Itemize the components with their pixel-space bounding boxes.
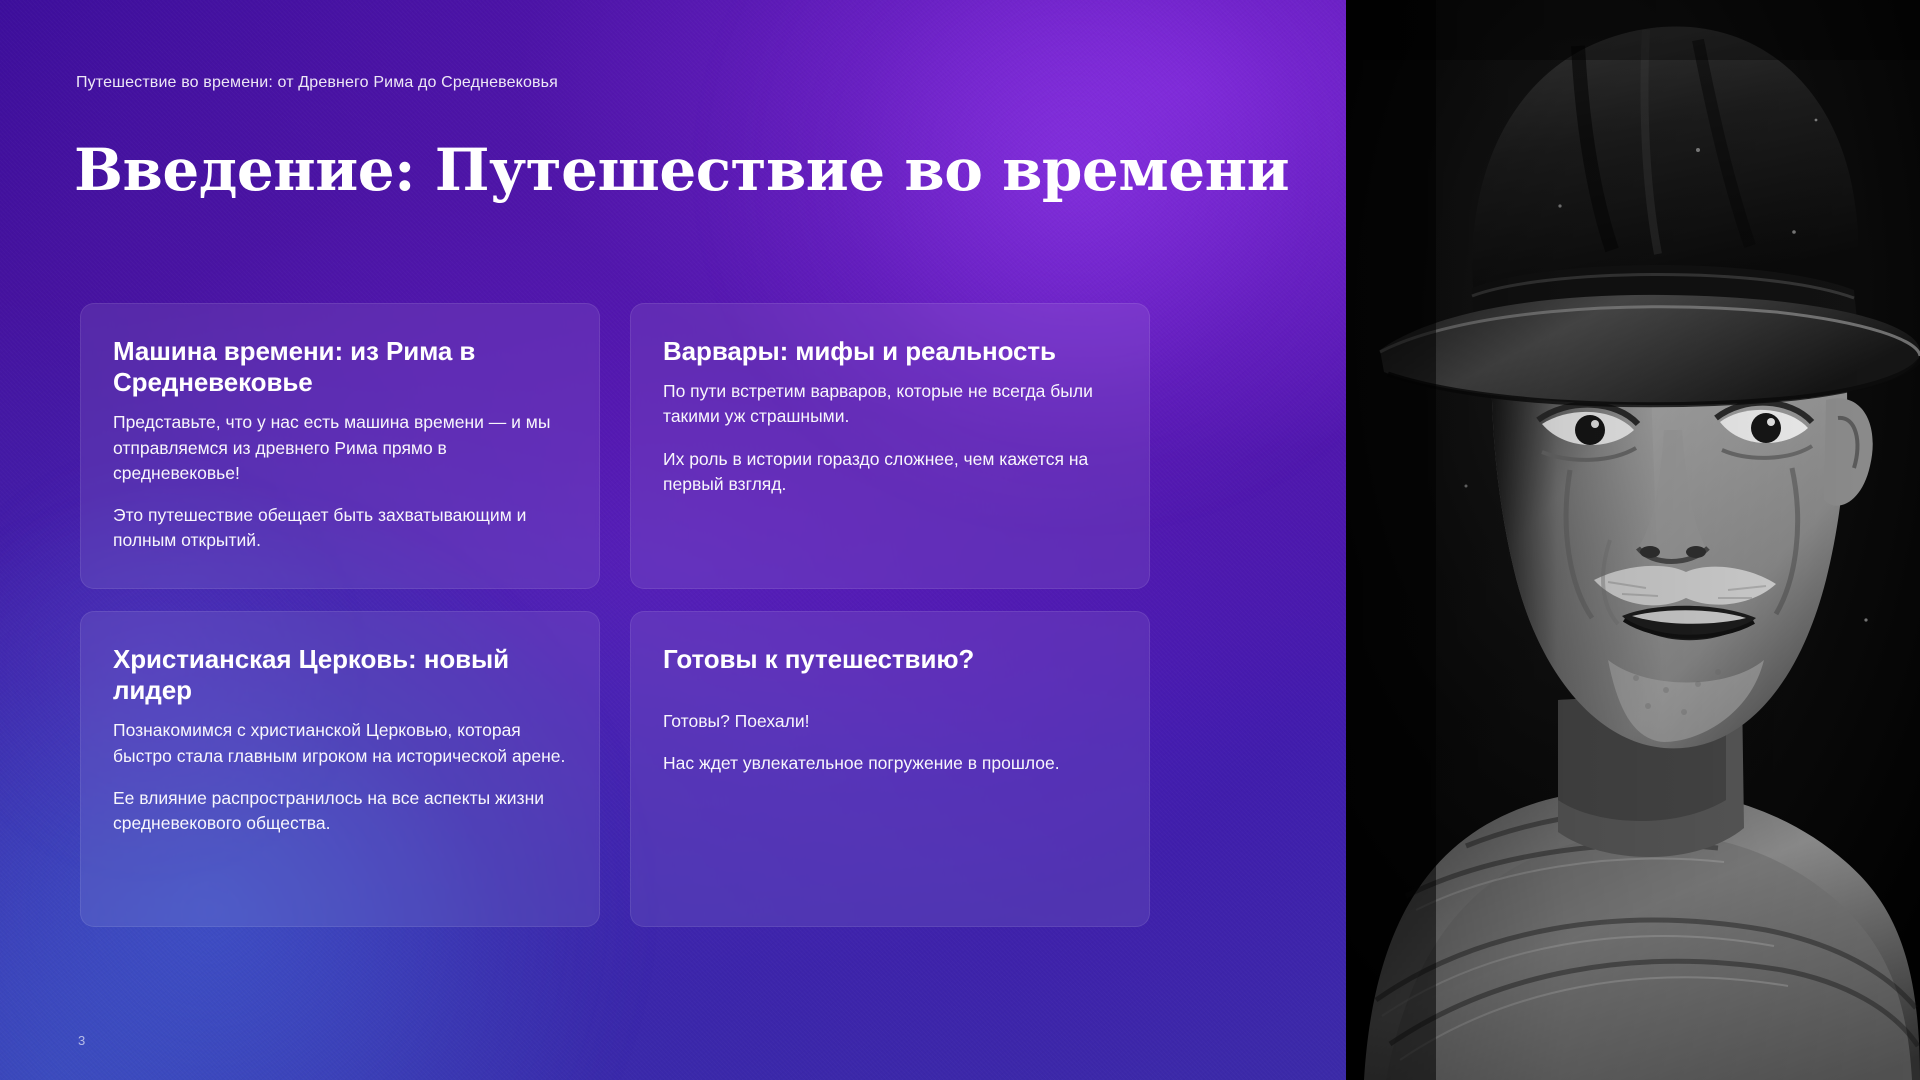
card-title: Христианская Церковь: новый лидер <box>113 644 567 706</box>
card-time-machine: Машина времени: из Рима в Средневековье … <box>80 303 600 589</box>
card-paragraph: Нас ждет увлекательное погружение в прош… <box>663 751 1117 776</box>
slide-root: Путешествие во времени: от Древнего Рима… <box>0 0 1920 1080</box>
card-paragraph: Ее влияние распространилось на все аспек… <box>113 786 567 836</box>
card-grid: Машина времени: из Рима в Средневековье … <box>80 303 1258 927</box>
card-paragraph: Познакомимся с христианской Церковью, ко… <box>113 718 567 768</box>
card-christian-church: Христианская Церковь: новый лидер Познак… <box>80 611 600 927</box>
portrait-photo <box>1346 0 1920 1080</box>
slide-eyebrow: Путешествие во времени: от Древнего Рима… <box>76 74 558 92</box>
card-title: Варвары: мифы и реальность <box>663 336 1117 367</box>
card-paragraph: По пути встретим варваров, которые не вс… <box>663 379 1117 429</box>
card-barbarians: Варвары: мифы и реальность По пути встре… <box>630 303 1150 589</box>
page-title: Введение: Путешествие во времени <box>74 136 1289 204</box>
card-paragraph: Представьте, что у нас есть машина време… <box>113 410 567 486</box>
card-paragraph: Это путешествие обещает быть захватывающ… <box>113 503 567 553</box>
card-paragraph: Готовы? Поехали! <box>663 709 1117 734</box>
portrait-illustration <box>1346 0 1920 1080</box>
card-title: Машина времени: из Рима в Средневековье <box>113 336 567 398</box>
card-ready-to-travel: Готовы к путешествию? Готовы? Поехали! Н… <box>630 611 1150 927</box>
page-number: 3 <box>78 1033 85 1048</box>
card-paragraph: Их роль в истории гораздо сложнее, чем к… <box>663 447 1117 497</box>
card-title: Готовы к путешествию? <box>663 644 1117 675</box>
